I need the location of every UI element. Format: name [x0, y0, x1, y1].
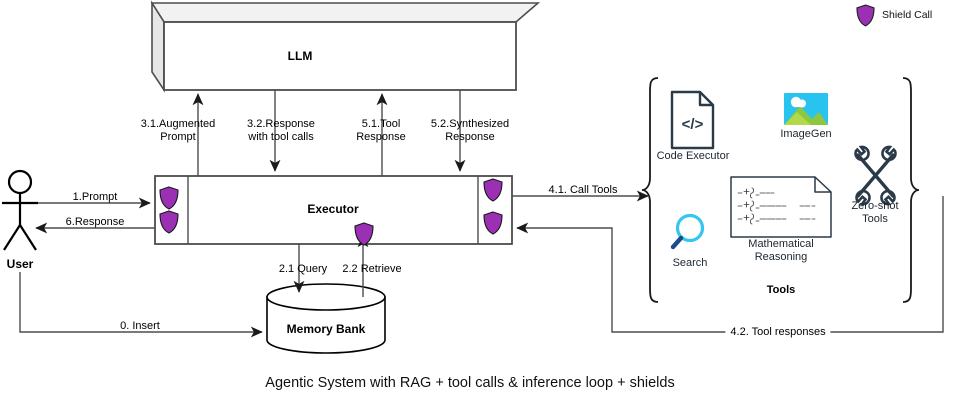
edge-label-prompt: 1.Prompt [73, 191, 118, 204]
llm-top-face [152, 3, 538, 22]
user-leg-right [20, 225, 36, 250]
edge-label-augmented-prompt: 3.1.Augmented Prompt [123, 118, 233, 144]
user-label: User [7, 257, 34, 271]
diagram-caption: Agentic System with RAG + tool calls & i… [265, 375, 674, 391]
edge-label-tool-response: 5.1.Tool Response [336, 118, 426, 144]
memory-bank-top [267, 284, 385, 310]
svg-text:</>: </> [682, 116, 704, 133]
memory-bank-label: Memory Bank [287, 322, 366, 336]
edge-label-retrieve: 2.2 Retrieve [342, 263, 401, 276]
edge-label-synthesized-response: 5.2.Synthesized Response [415, 118, 525, 144]
llm-label: LLM [288, 49, 313, 63]
diagram-svg: </> [0, 0, 970, 411]
llm-front-face [164, 22, 516, 90]
tool-label-math: Mathematical Reasoning [721, 238, 841, 264]
user-leg-left [4, 225, 20, 250]
formula-document-icon[interactable] [731, 177, 831, 237]
edge-label-call-tools: 4.1. Call Tools [549, 184, 618, 197]
legend-label: Shield Call [882, 9, 932, 21]
image-picture-icon[interactable] [784, 93, 828, 125]
diagram-canvas: </> [0, 0, 970, 411]
tool-label-imagegen: ImageGen [751, 128, 861, 141]
tools-right-brace [903, 78, 919, 302]
crossed-wrenches-icon[interactable] [856, 147, 896, 204]
user-head [9, 171, 31, 193]
tool-label-code-executor: Code Executor [633, 150, 753, 163]
edge-label-insert: 0. Insert [120, 320, 160, 333]
user-actor[interactable] [2, 171, 38, 250]
executor-label: Executor [307, 202, 358, 216]
edge-label-response: 6.Response [66, 216, 125, 229]
shield-icon-legend [857, 5, 874, 26]
edge-label-query: 2.1 Query [279, 263, 327, 276]
tools-group-label: Tools [736, 284, 826, 297]
memory-bank-node[interactable] [267, 284, 385, 353]
llm-node[interactable] [152, 3, 538, 90]
edge-label-response-tool-calls: 3.2.Response with tool calls [226, 118, 336, 144]
tool-label-zero-shot: Zero-shot Tools [830, 200, 920, 226]
edge-label-tool-responses: 4.2. Tool responses [725, 326, 830, 339]
code-document-icon[interactable]: </> [672, 92, 713, 148]
magnifier-icon[interactable] [673, 216, 703, 248]
